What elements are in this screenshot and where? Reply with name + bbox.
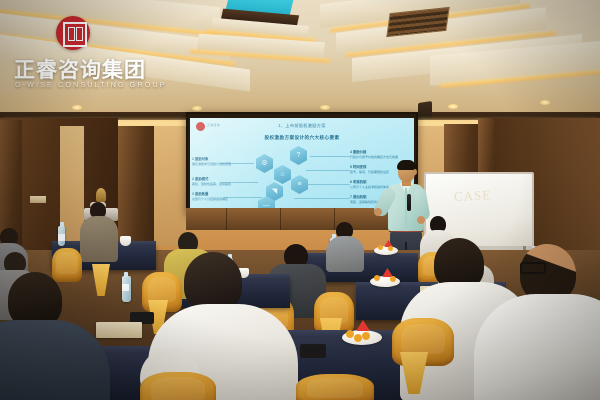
chair bbox=[140, 372, 216, 400]
company-logo-icon bbox=[56, 16, 90, 50]
whiteboard-writing: CASE bbox=[454, 187, 492, 205]
conference-room-photo: 正睿咨询 1、上市前股权激励方案 股权激励方案设计的六大核心要素 ⚙ ? ⌂ bbox=[0, 0, 600, 400]
watermark-company-en: G-WISE CONSULTING GROUP bbox=[15, 80, 175, 89]
orange-icon bbox=[390, 276, 396, 282]
orange-icon bbox=[374, 275, 380, 281]
downlight-icon bbox=[72, 105, 82, 110]
downlight-icon bbox=[320, 105, 330, 110]
water-bottle bbox=[122, 276, 131, 302]
eyeglasses-icon bbox=[520, 262, 546, 274]
phone-icon bbox=[300, 344, 326, 358]
orange-icon bbox=[354, 334, 362, 342]
chair bbox=[52, 248, 82, 282]
downlight-icon bbox=[448, 104, 458, 109]
downlight-icon bbox=[540, 100, 550, 105]
decor-lamp-icon bbox=[96, 188, 106, 202]
orange-icon bbox=[378, 245, 383, 250]
wall-panel bbox=[118, 126, 154, 254]
microphone-icon bbox=[407, 194, 411, 211]
orange-icon bbox=[362, 332, 370, 340]
water-bottle bbox=[58, 226, 65, 246]
chair bbox=[296, 374, 374, 400]
orange-icon bbox=[388, 246, 393, 251]
notepad bbox=[96, 322, 142, 338]
downlight-icon bbox=[192, 106, 202, 111]
wall-panel bbox=[154, 126, 186, 246]
cup bbox=[120, 236, 131, 246]
exit-sign bbox=[30, 196, 46, 203]
orange-icon bbox=[346, 330, 354, 338]
